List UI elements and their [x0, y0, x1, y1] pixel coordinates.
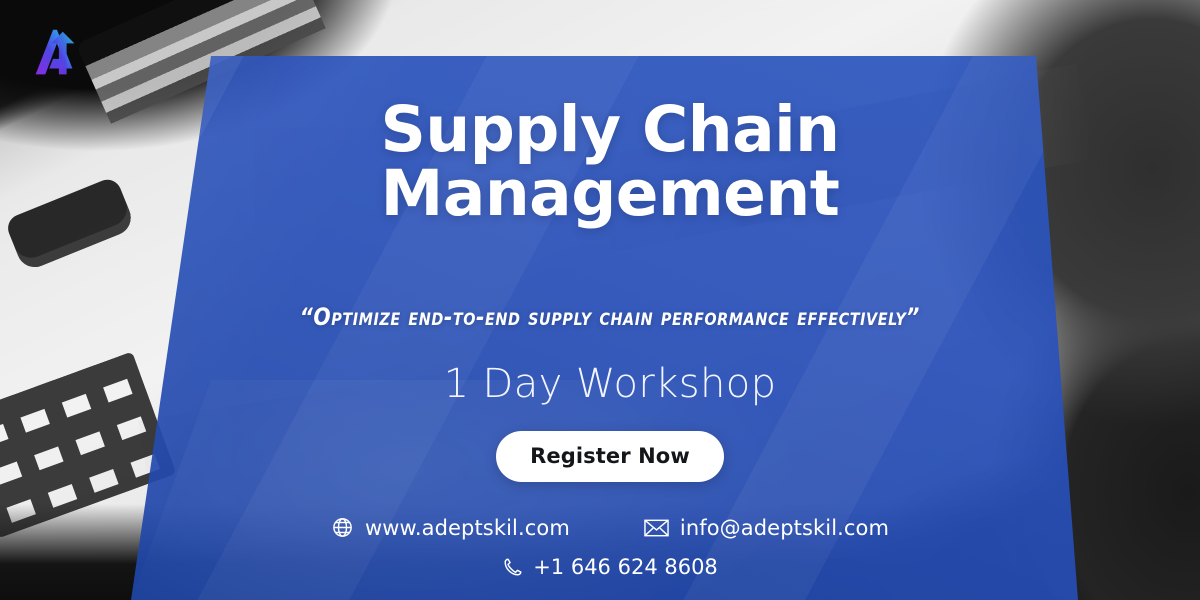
- envelope-icon: [644, 518, 669, 538]
- globe-icon: [331, 516, 354, 539]
- event-poster: Supply Chain Management “Optimize end-to…: [0, 0, 1200, 600]
- poster-content: Supply Chain Management “Optimize end-to…: [140, 56, 1080, 600]
- adeptskil-a-arrow-logo-icon: [24, 22, 86, 84]
- register-now-button[interactable]: Register Now: [496, 431, 724, 482]
- website-url: www.adeptskil.com: [365, 516, 570, 540]
- email-contact[interactable]: info@adeptskil.com: [644, 516, 889, 540]
- page-title: Supply Chain Management: [380, 98, 839, 227]
- title-line-2: Management: [380, 162, 839, 226]
- title-line-1: Supply Chain: [380, 98, 839, 162]
- tagline: “Optimize end-to-end supply chain perfor…: [300, 303, 920, 331]
- contact-row: www.adeptskil.com info@adeptskil.com: [331, 516, 889, 540]
- website-contact[interactable]: www.adeptskil.com: [331, 516, 570, 540]
- phone-icon: [502, 556, 524, 578]
- phone-number: +1 646 624 8608: [533, 555, 718, 579]
- workshop-duration: 1 Day Workshop: [444, 361, 777, 407]
- phone-contact[interactable]: +1 646 624 8608: [502, 555, 718, 579]
- email-address: info@adeptskil.com: [680, 516, 889, 540]
